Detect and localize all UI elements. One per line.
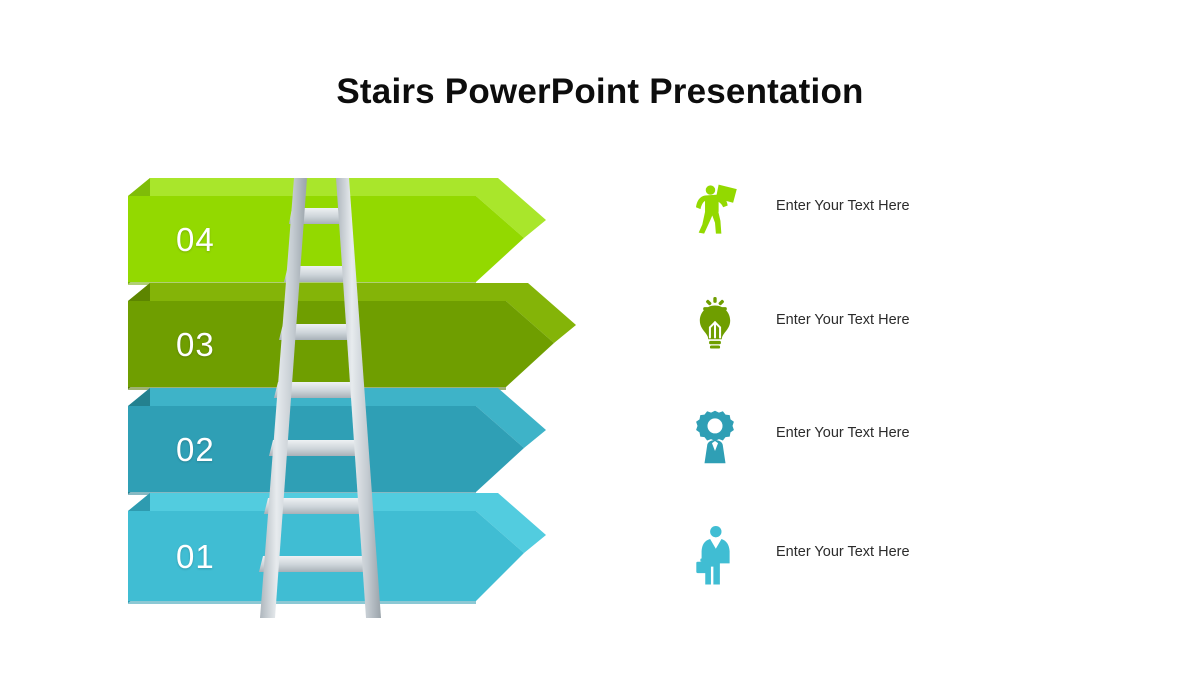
page-title: Stairs PowerPoint Presentation — [0, 72, 1200, 112]
content-row-2[interactable]: Enter Your Text Here — [660, 284, 1080, 374]
businessman-briefcase-icon — [680, 516, 750, 596]
slide-canvas: Stairs PowerPoint Presentation 04 03 — [0, 0, 1200, 675]
content-row-2-text: Enter Your Text Here — [776, 312, 910, 328]
step-02-number: 02 — [176, 431, 215, 469]
step-04-number: 04 — [176, 221, 215, 259]
content-row-1[interactable]: Enter Your Text Here — [660, 170, 1080, 260]
businessman-with-flag-icon — [680, 170, 750, 250]
step-arrow-01[interactable]: 01 — [128, 493, 548, 628]
lightbulb-icon — [680, 284, 750, 364]
gear-person-icon — [680, 397, 750, 477]
content-row-4[interactable]: Enter Your Text Here — [660, 516, 1080, 606]
content-row-4-text: Enter Your Text Here — [776, 544, 910, 560]
step-03-number: 03 — [176, 326, 215, 364]
content-row-3[interactable]: Enter Your Text Here — [660, 397, 1080, 487]
content-row-1-text: Enter Your Text Here — [776, 198, 910, 214]
content-row-3-text: Enter Your Text Here — [776, 425, 910, 441]
step-01-number: 01 — [176, 538, 215, 576]
